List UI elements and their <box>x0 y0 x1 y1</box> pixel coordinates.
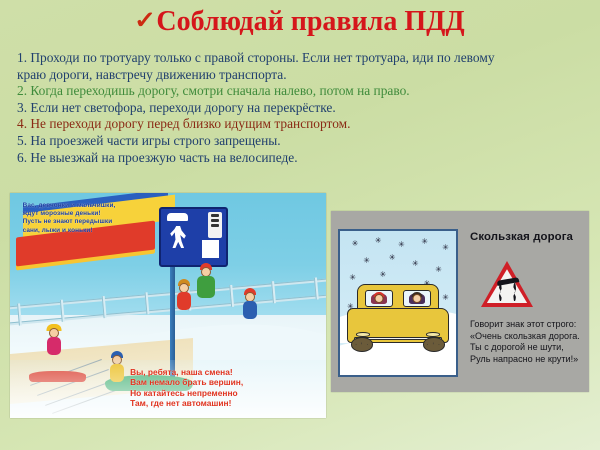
left-bottom-line-4: Там, где нет автомашин! <box>130 398 313 409</box>
snowflake-icon: ✳ <box>389 254 396 262</box>
verse-line-2: «Очень скользкая дорога. <box>470 331 586 343</box>
snowflake-icon: ✳ <box>379 271 386 279</box>
skier-icon <box>202 240 219 258</box>
slippery-road-warning-sign <box>481 261 533 307</box>
pedestrian-icon <box>170 226 187 249</box>
checkmark-icon: ✓ <box>134 6 156 35</box>
rule-5-line-1: 5. На проезжей части игры строго запреще… <box>17 133 281 148</box>
snowflake-icon: ✳ <box>435 266 442 274</box>
snow-spray: · ' · <box>355 342 369 349</box>
left-bottom-line-1: Вы, ребята, наша смена! <box>130 367 313 378</box>
verse-line-1: Говорит знак этот строго: <box>470 319 586 331</box>
snowflake-icon: ✳ <box>442 244 449 252</box>
rule-2-line-1: 2. Когда переходишь дорогу, смотри снача… <box>17 83 410 98</box>
snow-spray: · ' · <box>427 342 441 349</box>
left-bottom-line-3: Но катайтесь непременно <box>130 388 313 399</box>
rule-item-6: 6. Не выезжай на проезжую часть на велос… <box>17 150 587 167</box>
verse-line-4: Руль напрасно не крути!» <box>470 354 586 366</box>
snowflake-icon: ✳ <box>349 274 356 282</box>
skid-marks-icon <box>499 283 517 301</box>
rule-1-line-1: 1. Проходи по тротуару только с правой с… <box>17 50 495 65</box>
snowflake-icon: ✳ <box>352 240 359 248</box>
rules-list: 1. Проходи по тротуару только с правой с… <box>17 50 587 166</box>
passenger-adult <box>409 293 425 303</box>
left-illustration: Вас, девчонки и мальчишки, ждут морозные… <box>10 193 326 418</box>
left-bottom-line-2: Вам немало брать вершин, <box>130 377 313 388</box>
snowflake-icon: ✳ <box>412 260 419 268</box>
rule-3-line-1: 3. Если нет светофора, переходи дорогу н… <box>17 100 336 115</box>
rule-item-3: 3. Если нет светофора, переходи дорогу н… <box>17 100 587 117</box>
verse-line-3: Ты с дорогой не шути, <box>470 342 586 354</box>
rule-item-2: 2. Когда переходишь дорогу, смотри снача… <box>17 83 587 100</box>
yellow-car: · ' · · ' · <box>347 286 449 352</box>
right-illustration: ✳ ✳ ✳ ✳ ✳ ✳ ✳ ✳ ✳ ✳ ✳ ✳ ✳ ✳ ✳ ✳ ✳ <box>331 211 589 392</box>
car-glyph-icon <box>167 213 188 221</box>
rule-6-line-1: 6. Не выезжай на проезжую часть на велос… <box>17 150 298 165</box>
snowflake-icon: ✳ <box>421 238 428 246</box>
snowflake-icon: ✳ <box>375 237 382 245</box>
passenger-child <box>371 293 387 303</box>
car-window-right <box>403 290 432 307</box>
rule-item-1: 1. Проходи по тротуару только с правой с… <box>17 50 587 67</box>
rule-item-4: 4. Не переходи дорогу перед близко идущи… <box>17 116 587 133</box>
snowflake-icon: ✳ <box>398 241 405 249</box>
rule-1-line-2: краю дороги, навстречу движению транспор… <box>17 67 287 82</box>
headlight-icon <box>356 332 370 337</box>
pedestrian-crossing-winter-sign <box>159 207 229 268</box>
left-bottom-poem: Вы, ребята, наша смена! Вам немало брать… <box>130 367 313 409</box>
rule-4-line-1: 4. Не переходи дорогу перед близко идущи… <box>17 116 350 131</box>
page-title-text: Соблюдай правила ПДД <box>156 6 464 37</box>
headlight-icon <box>426 332 440 337</box>
rule-item-1-cont: краю дороги, навстречу движению транспор… <box>17 67 587 84</box>
right-verse: Говорит знак этот строго: «Очень скользк… <box>470 319 586 365</box>
car-window-left <box>365 290 394 307</box>
page-title: ✓Соблюдай правила ПДД <box>0 0 600 46</box>
snowflake-icon: ✳ <box>363 257 370 265</box>
face-icon <box>374 294 383 303</box>
rule-item-5: 5. На проезжей части игры строго запреще… <box>17 133 587 150</box>
winter-car-picture: ✳ ✳ ✳ ✳ ✳ ✳ ✳ ✳ ✳ ✳ ✳ ✳ ✳ ✳ ✳ ✳ ✳ <box>338 229 458 377</box>
face-icon <box>413 294 422 303</box>
sled <box>29 371 86 382</box>
sign-strip <box>208 212 222 238</box>
right-heading: Скользкая дорога <box>470 231 573 243</box>
